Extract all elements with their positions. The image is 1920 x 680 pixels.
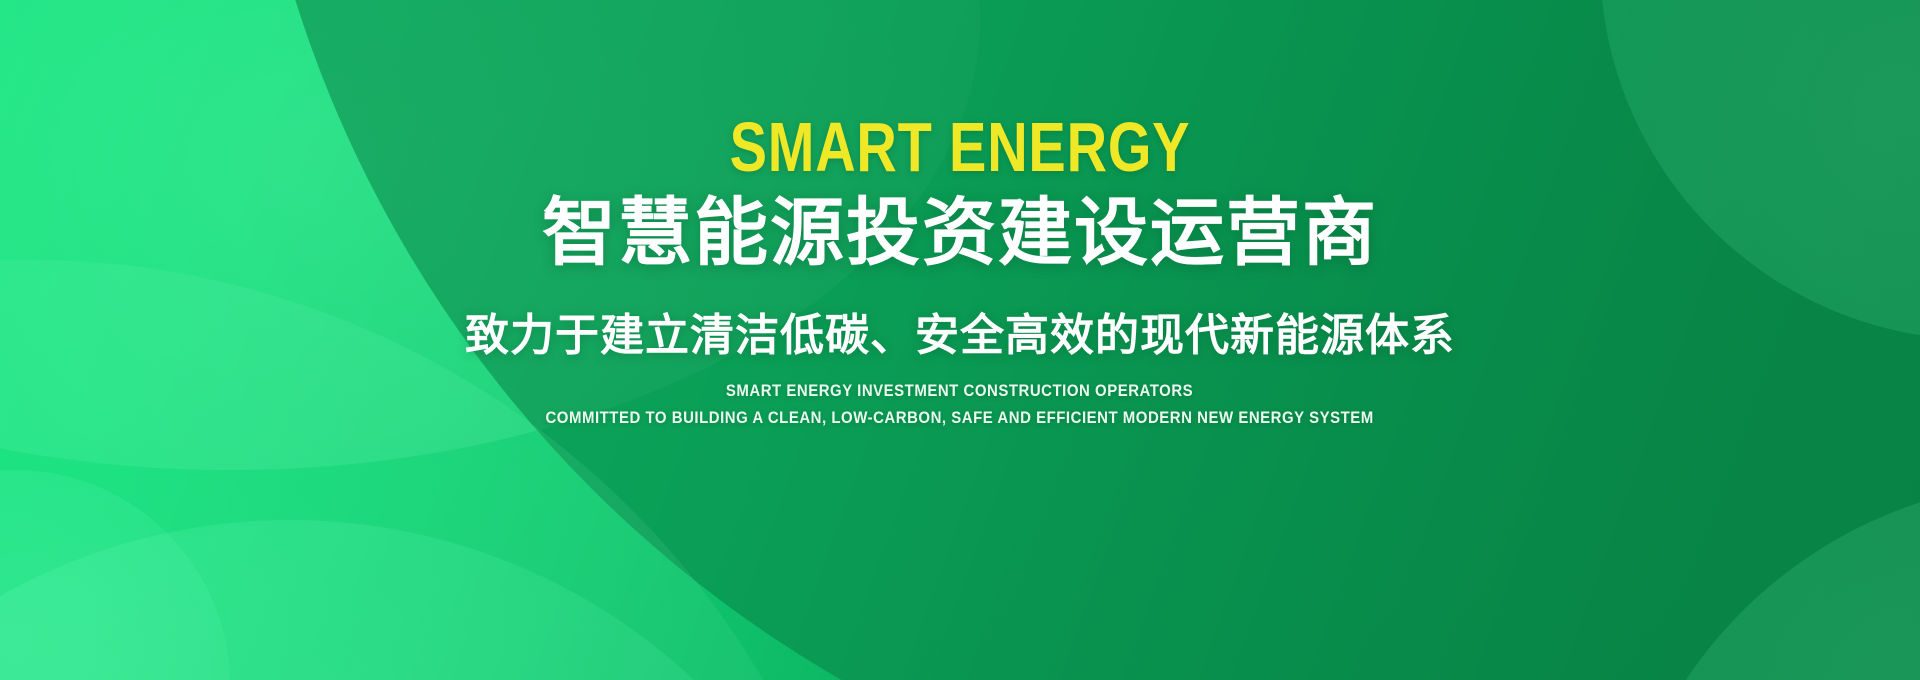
banner-title-english: SMART ENERGY	[730, 112, 1191, 182]
banner-subtitle-english-line-1: SMART ENERGY INVESTMENT CONSTRUCTION OPE…	[726, 380, 1193, 401]
banner-title-chinese: 智慧能源投资建设运营商	[542, 196, 1378, 270]
banner-content: SMART ENERGY 智慧能源投资建设运营商 致力于建立清洁低碳、安全高效的…	[0, 0, 1920, 680]
banner-subtitle-chinese: 致力于建立清洁低碳、安全高效的现代新能源体系	[465, 314, 1455, 358]
banner-subtitle-english-group: SMART ENERGY INVESTMENT CONSTRUCTION OPE…	[489, 380, 1430, 429]
banner-subtitle-english-line-2: COMMITTED TO BUILDING A CLEAN, LOW-CARBO…	[546, 407, 1374, 428]
hero-banner: SMART ENERGY 智慧能源投资建设运营商 致力于建立清洁低碳、安全高效的…	[0, 0, 1920, 680]
